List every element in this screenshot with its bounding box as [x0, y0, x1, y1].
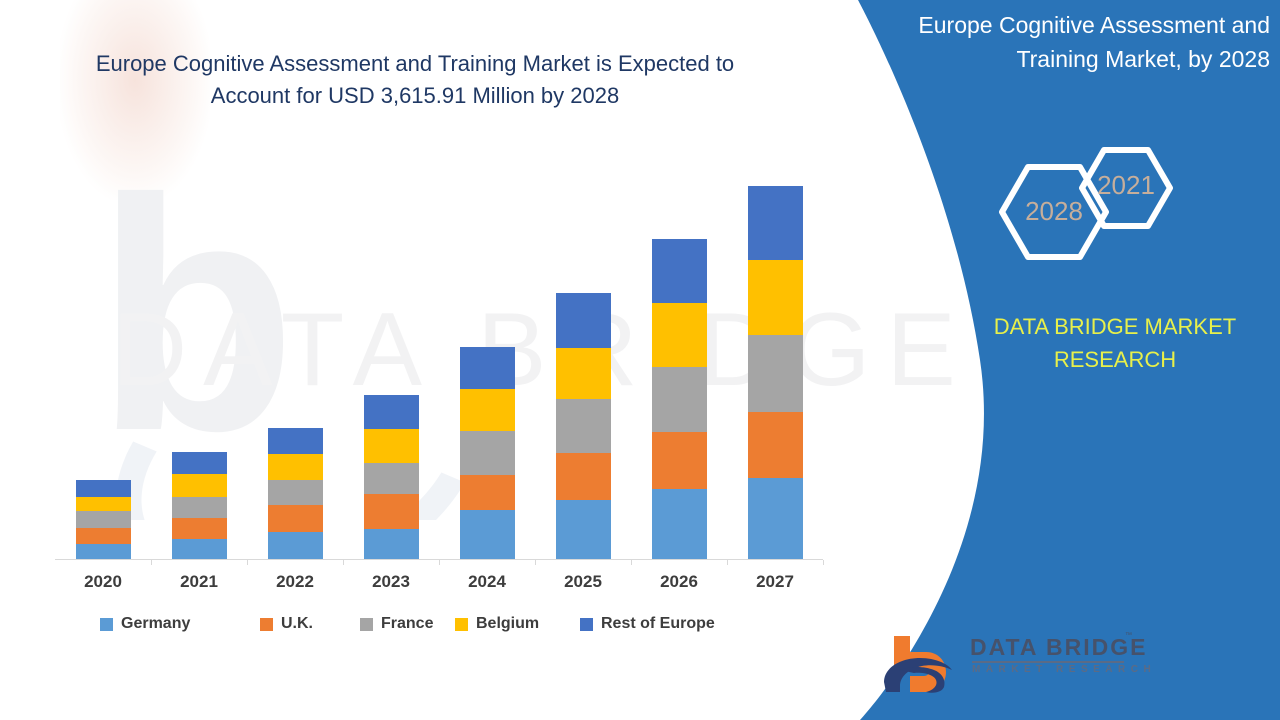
legend-swatch-france: [360, 618, 373, 631]
bar-segment-germany[interactable]: [364, 529, 419, 559]
legend-label-u-k: U.K.: [281, 615, 313, 633]
bar-2020[interactable]: [76, 480, 131, 559]
logo-name: DATA BRIDGE: [970, 634, 1147, 661]
bar-segment-germany[interactable]: [268, 532, 323, 559]
bar-segment-u-k[interactable]: [76, 528, 131, 544]
bar-segment-germany[interactable]: [172, 539, 227, 559]
bar-segment-belgium[interactable]: [460, 389, 515, 431]
bar-segment-rest-of-europe[interactable]: [268, 428, 323, 454]
x-axis-label-2021: 2021: [159, 572, 239, 592]
bar-segment-rest-of-europe[interactable]: [460, 347, 515, 389]
bar-segment-france[interactable]: [268, 480, 323, 505]
bar-2026[interactable]: [652, 239, 707, 559]
bar-segment-belgium[interactable]: [364, 429, 419, 463]
legend-swatch-belgium: [455, 618, 468, 631]
legend-item-germany[interactable]: Germany: [100, 615, 190, 633]
legend-swatch-u-k: [260, 618, 273, 631]
bar-2022[interactable]: [268, 428, 323, 559]
legend-swatch-germany: [100, 618, 113, 631]
legend-label-france: France: [381, 615, 433, 633]
bar-segment-france[interactable]: [76, 511, 131, 528]
bar-segment-belgium[interactable]: [556, 348, 611, 399]
bar-segment-belgium[interactable]: [172, 474, 227, 497]
logo-trademark: ™: [1125, 632, 1132, 639]
logo-divider: [972, 661, 1124, 663]
bar-segment-belgium[interactable]: [652, 303, 707, 367]
x-axis-tick: [151, 560, 152, 565]
bar-chart-plot-area: [55, 150, 823, 560]
legend-item-belgium[interactable]: Belgium: [455, 615, 539, 633]
x-axis-tick: [247, 560, 248, 565]
chart-legend: GermanyU.K.FranceBelgiumRest of Europe: [55, 615, 823, 643]
bar-2025[interactable]: [556, 293, 611, 559]
logo-mark-icon: [880, 630, 966, 696]
bar-segment-france[interactable]: [172, 497, 227, 518]
legend-item-u-k[interactable]: U.K.: [260, 615, 313, 633]
x-axis-tick: [727, 560, 728, 565]
bar-segment-france[interactable]: [652, 367, 707, 432]
x-axis-label-2024: 2024: [447, 572, 527, 592]
bar-segment-rest-of-europe[interactable]: [172, 452, 227, 474]
company-logo: DATA BRIDGE ™ MARKET RESEARCH: [880, 630, 1140, 700]
panel-brand-text: DATA BRIDGE MARKET RESEARCH: [960, 310, 1270, 376]
x-axis-label-2023: 2023: [351, 572, 431, 592]
legend-label-germany: Germany: [121, 615, 190, 633]
bar-segment-rest-of-europe[interactable]: [364, 395, 419, 429]
bar-segment-rest-of-europe[interactable]: [652, 239, 707, 303]
bar-segment-u-k[interactable]: [556, 453, 611, 500]
bar-segment-germany[interactable]: [460, 510, 515, 559]
right-info-panel: Europe Cognitive Assessment and Training…: [780, 0, 1280, 720]
x-axis-label-2020: 2020: [63, 572, 143, 592]
logo-tagline: MARKET RESEARCH: [972, 664, 1156, 675]
bar-segment-france[interactable]: [460, 431, 515, 475]
bar-segment-belgium[interactable]: [268, 454, 323, 480]
bar-segment-u-k[interactable]: [460, 475, 515, 510]
bar-segment-germany[interactable]: [556, 500, 611, 559]
x-axis-label-2026: 2026: [639, 572, 719, 592]
legend-swatch-rest-of-europe: [580, 618, 593, 631]
x-axis-labels: 20202021202220232024202520262027: [55, 572, 823, 598]
x-axis-tick: [439, 560, 440, 565]
legend-label-rest-of-europe: Rest of Europe: [601, 615, 715, 633]
bar-segment-u-k[interactable]: [652, 432, 707, 489]
legend-item-rest-of-europe[interactable]: Rest of Europe: [580, 615, 715, 633]
bar-segment-france[interactable]: [556, 399, 611, 453]
bar-segment-rest-of-europe[interactable]: [76, 480, 131, 497]
bar-segment-u-k[interactable]: [364, 494, 419, 529]
bar-2021[interactable]: [172, 452, 227, 559]
panel-brand-line1: DATA BRIDGE MARKET: [960, 310, 1270, 343]
bar-2024[interactable]: [460, 347, 515, 559]
slide-canvas: b DATA BRIDGE MARKET RESEARCH Europe Cog…: [0, 0, 1280, 720]
x-axis-label-2022: 2022: [255, 572, 335, 592]
chart-title: Europe Cognitive Assessment and Training…: [55, 48, 775, 112]
panel-brand-line2: RESEARCH: [960, 343, 1270, 376]
bar-segment-belgium[interactable]: [76, 497, 131, 511]
bar-segment-rest-of-europe[interactable]: [556, 293, 611, 348]
x-axis-label-2025: 2025: [543, 572, 623, 592]
bar-segment-u-k[interactable]: [172, 518, 227, 539]
panel-title: Europe Cognitive Assessment and Training…: [880, 8, 1270, 76]
bar-2023[interactable]: [364, 395, 419, 559]
bar-segment-germany[interactable]: [76, 544, 131, 559]
x-axis-tick: [535, 560, 536, 565]
legend-item-france[interactable]: France: [360, 615, 433, 633]
x-axis-tick: [631, 560, 632, 565]
hexagon-front-label: 2021: [1082, 170, 1170, 201]
bar-segment-u-k[interactable]: [268, 505, 323, 532]
bar-segment-germany[interactable]: [652, 489, 707, 559]
legend-label-belgium: Belgium: [476, 615, 539, 633]
bar-segment-france[interactable]: [364, 463, 419, 494]
hexagon-badges: 2028 2021: [980, 140, 1180, 290]
x-axis-tick: [343, 560, 344, 565]
